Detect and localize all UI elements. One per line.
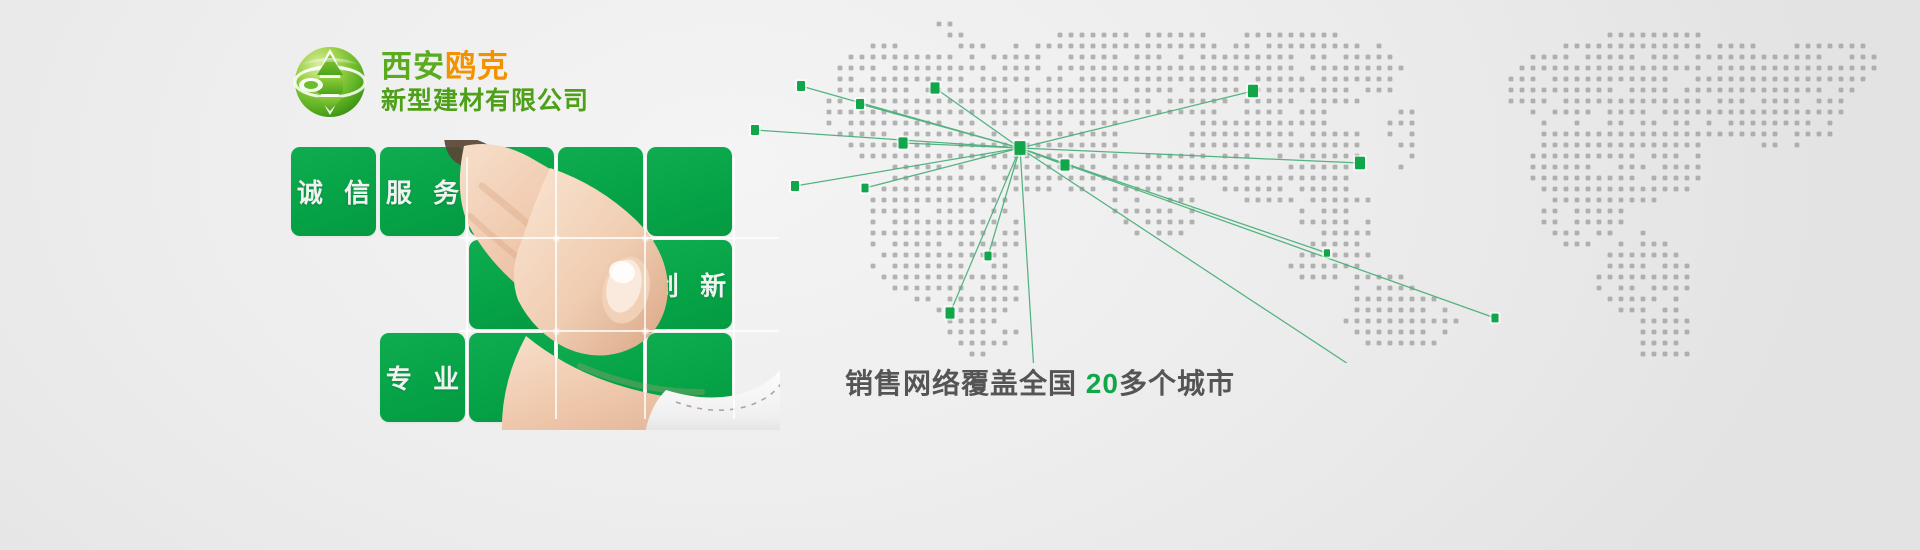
value-tile-1: 服 务 bbox=[380, 147, 465, 236]
grid-intersection-node bbox=[641, 234, 650, 243]
company-logo[interactable]: 西安鸥克 新型建材有限公司 bbox=[293, 45, 589, 119]
value-tile-label: 质 量 bbox=[557, 266, 644, 303]
value-tile-label: 创 新 bbox=[646, 266, 733, 303]
grid-separator-horizontal bbox=[459, 330, 779, 332]
value-tile-7: 创 新 bbox=[647, 240, 732, 329]
logo-city: 西安 bbox=[381, 49, 445, 84]
value-tile-blank-5 bbox=[469, 240, 554, 329]
grid-intersection-node bbox=[463, 327, 472, 336]
value-tile-blank-4 bbox=[647, 147, 732, 236]
value-tile-0: 诚 信 bbox=[291, 147, 376, 236]
tagline-highlight: 20 bbox=[1086, 368, 1119, 399]
logo-title-line: 西安鸥克 bbox=[381, 51, 589, 82]
value-tile-blank-3 bbox=[558, 147, 643, 236]
grid-separator-vertical bbox=[555, 157, 557, 419]
value-tile-blank-10 bbox=[558, 333, 643, 422]
company-sphere-emblem-icon bbox=[293, 45, 367, 119]
logo-wordmark: 西安鸥克 新型建材有限公司 bbox=[381, 51, 589, 114]
value-tile-blank-9 bbox=[469, 333, 554, 422]
hero-banner: 西安鸥克 新型建材有限公司 诚 信服 务质 量创 新专 业 bbox=[0, 0, 1920, 550]
tagline-suffix: 多个城市 bbox=[1119, 368, 1235, 399]
logo-brand: 鸥克 bbox=[445, 49, 509, 84]
dotted-world-map-icon bbox=[735, 18, 1920, 363]
grid-separator-vertical bbox=[644, 157, 646, 419]
grid-separator-vertical bbox=[466, 157, 468, 419]
value-tile-blank-11 bbox=[647, 333, 732, 422]
map-connection-lines bbox=[755, 86, 1495, 363]
tagline-prefix: 销售网络覆盖全国 bbox=[845, 368, 1077, 399]
value-tile-8: 专 业 bbox=[380, 333, 465, 422]
value-tile-label: 服 务 bbox=[379, 173, 466, 210]
map-dot-layer bbox=[827, 22, 1877, 357]
value-tile-label: 专 业 bbox=[379, 359, 466, 396]
value-tile-label: 诚 信 bbox=[290, 173, 377, 210]
grid-intersection-node bbox=[641, 327, 650, 336]
grid-intersection-node bbox=[463, 234, 472, 243]
grid-intersection-node bbox=[552, 327, 561, 336]
value-tile-blank-2 bbox=[469, 147, 554, 236]
value-tile-6: 质 量 bbox=[558, 240, 643, 329]
logo-subtitle: 新型建材有限公司 bbox=[381, 89, 589, 114]
sales-network-tagline: 销售网络覆盖全国 20多个城市 bbox=[845, 362, 1235, 402]
grid-separator-horizontal bbox=[459, 237, 779, 239]
grid-intersection-node bbox=[552, 234, 561, 243]
